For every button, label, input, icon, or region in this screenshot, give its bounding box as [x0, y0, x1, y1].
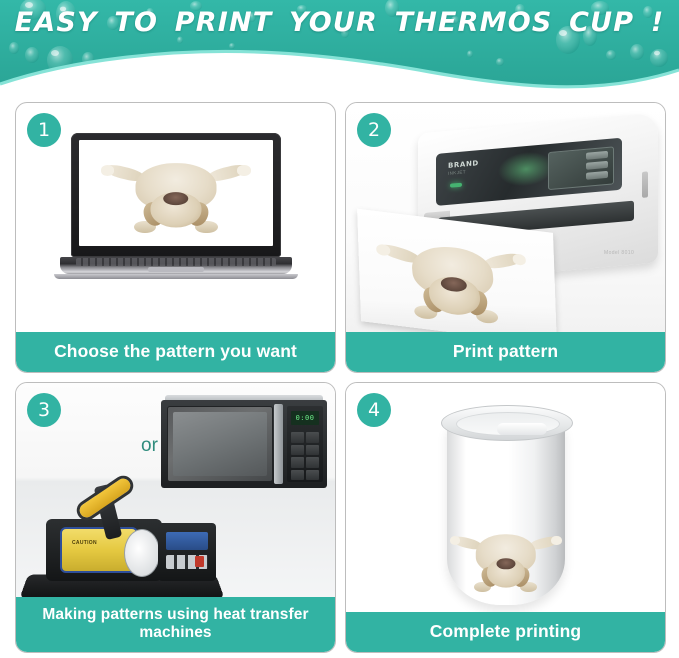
laptop-screen: [79, 140, 273, 246]
microwave-key[interactable]: [291, 457, 304, 468]
printer-scene: BRAND INKJET Model 8010: [346, 103, 665, 332]
microwave-key[interactable]: [306, 470, 319, 481]
laptop-lid: [71, 133, 281, 257]
bulldog-print-on-tumbler: [450, 521, 562, 597]
bulldog-photo-on-paper: [374, 225, 532, 332]
step-number-badge-1: 1: [27, 113, 61, 147]
bulldog-photo-printed: [450, 521, 562, 597]
microwave-key[interactable]: [291, 432, 304, 443]
step-3-illustration: 0:00: [16, 383, 335, 597]
printer-status-led: [450, 183, 462, 188]
printer-brand-label: BRAND: [448, 159, 479, 170]
tumbler-scene: [346, 383, 665, 612]
microwave-key[interactable]: [291, 470, 304, 481]
microwave-handle[interactable]: [274, 404, 283, 484]
dog-paw-right: [551, 536, 561, 544]
step-4-illustration: 4: [346, 383, 665, 612]
laptop-keyboard: [76, 258, 276, 266]
step-caption-2: Print pattern: [346, 332, 665, 372]
laptop-base: [60, 257, 292, 274]
heat-transfer-scene: 0:00: [16, 383, 335, 597]
step-2-illustration: BRAND INKJET Model 8010: [346, 103, 665, 332]
printer-panel-glow: [498, 150, 554, 189]
step-panel-1: 1: [15, 102, 336, 373]
step-number-badge-3: 3: [27, 393, 61, 427]
step-caption-3: Making patterns using heat transfer mach…: [16, 597, 335, 652]
step-caption-4: Complete printing: [346, 612, 665, 652]
step-1-illustration: 1: [16, 103, 335, 332]
dog-paw-left: [376, 244, 390, 256]
microwave-display: 0:00: [291, 411, 319, 425]
or-separator-label: or: [141, 435, 158, 457]
tumbler-lid-inner: [456, 412, 560, 436]
heat-press-display: [166, 532, 208, 550]
microwave-key[interactable]: [306, 445, 319, 456]
microwave-control-panel: 0:00: [287, 406, 323, 482]
caution-label: CAUTION: [72, 540, 97, 546]
heat-press-power-switch[interactable]: [195, 556, 204, 567]
printer-side-vent: [642, 171, 648, 198]
laptop-trackpad: [148, 267, 204, 272]
printer-control-panel: BRAND INKJET: [436, 138, 622, 206]
step-panel-3: 0:00: [15, 382, 336, 653]
step-caption-1: Choose the pattern you want: [16, 332, 335, 372]
thermos-tumbler: [439, 399, 573, 605]
page-title: EASY TO PRINT YOUR THERMOS CUP !: [0, 7, 679, 38]
printer-model-label: Model 8010: [604, 250, 634, 256]
step-panel-4: 4 Complete printing: [345, 382, 666, 653]
dog-paw-left: [101, 165, 115, 175]
tumbler-lid: [441, 405, 573, 441]
microwave-key[interactable]: [306, 432, 319, 443]
mug-heat-press: CAUTION: [24, 443, 224, 597]
steps-grid: 1: [0, 97, 679, 658]
heat-press-controller: [158, 523, 216, 581]
step-panel-2: BRAND INKJET Model 8010: [345, 102, 666, 373]
dog-paw-left: [450, 536, 460, 544]
printer-brand-sublabel: INKJET: [448, 169, 466, 176]
microwave-key[interactable]: [291, 445, 304, 456]
bulldog-photo-on-screen: [101, 147, 251, 239]
dog-muzzle: [163, 192, 189, 206]
step-number-badge-2: 2: [357, 113, 391, 147]
microwave-keypad[interactable]: [291, 432, 319, 480]
dog-paw-right: [237, 165, 251, 175]
heat-press-mug: [124, 529, 160, 577]
microwave-key[interactable]: [306, 457, 319, 468]
step-number-badge-4: 4: [357, 393, 391, 427]
header-banner: EASY TO PRINT YOUR THERMOS CUP !: [0, 0, 679, 92]
laptop-device: [71, 133, 281, 279]
tumbler-lid-slider[interactable]: [497, 423, 547, 435]
laptop-foot: [54, 274, 298, 279]
